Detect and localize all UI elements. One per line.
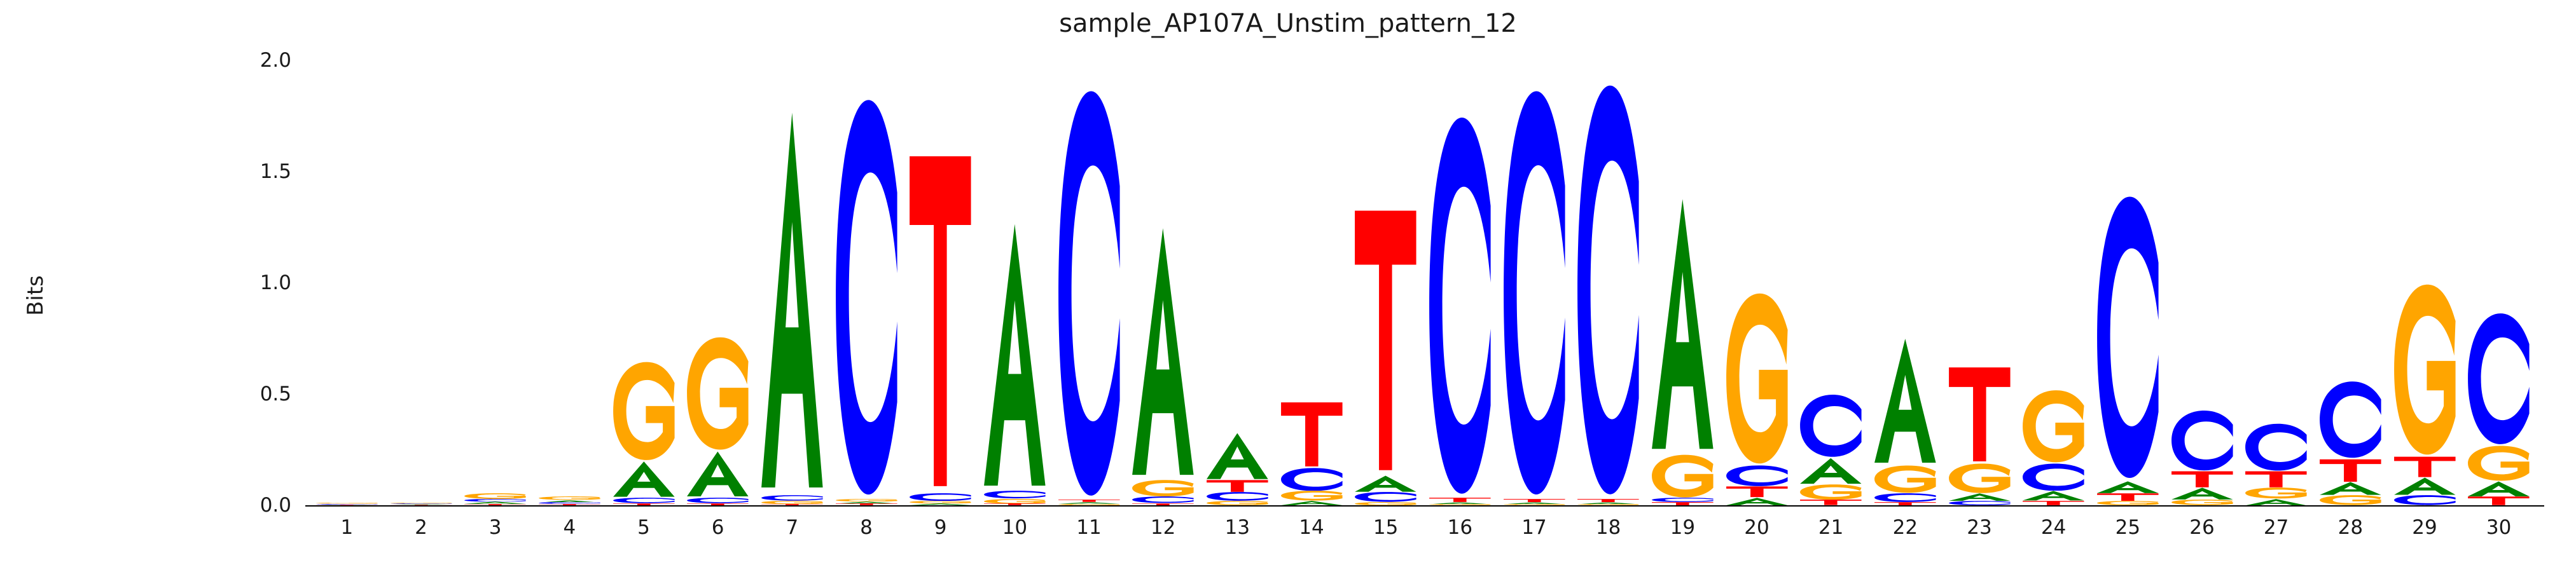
x-axis-tick-label: 17 xyxy=(1521,516,1546,539)
logo-stack[interactable] xyxy=(611,60,677,505)
logo-letter-a xyxy=(2318,482,2383,495)
x-axis-tick-label: 21 xyxy=(1818,516,1843,539)
logo-letter-a xyxy=(1724,498,1790,505)
x-axis-tick-label: 8 xyxy=(860,516,873,539)
logo-letter-c xyxy=(2170,410,2235,471)
logo-stack[interactable] xyxy=(908,60,973,505)
y-axis-tick-label: 0.5 xyxy=(260,383,291,405)
x-axis-tick-labels: 1234567891011121314151617181920212223242… xyxy=(310,516,2536,545)
logo-letter-t xyxy=(1279,401,1345,468)
x-axis-tick-label: 24 xyxy=(2041,516,2066,539)
x-axis-tick-label: 29 xyxy=(2412,516,2437,539)
logo-letter-a xyxy=(1873,336,1938,465)
logo-stack[interactable] xyxy=(1724,60,1790,505)
logo-letter-a xyxy=(1353,475,1418,492)
logo-stack[interactable] xyxy=(2318,60,2383,505)
logo-letter-a xyxy=(982,219,1048,491)
logo-letter-c xyxy=(2466,312,2531,446)
logo-stack[interactable] xyxy=(2021,60,2086,505)
logo-letter-g xyxy=(1873,465,1938,493)
x-axis-tick-label: 10 xyxy=(1002,516,1027,539)
logo-letter-t xyxy=(2095,493,2161,501)
logo-letter-a xyxy=(2243,499,2309,506)
logo-letter-g xyxy=(462,493,528,499)
logo-letter-a xyxy=(2466,481,2531,497)
x-axis-tick-label: 22 xyxy=(1893,516,1918,539)
logo-letter-a xyxy=(2392,477,2458,495)
logo-stack[interactable] xyxy=(834,60,899,505)
logo-letter-a xyxy=(1798,458,1864,484)
x-axis-tick-label: 5 xyxy=(637,516,650,539)
logo-letter-c xyxy=(1353,492,1418,502)
x-axis-tick-label: 2 xyxy=(415,516,427,539)
x-axis-tick-label: 12 xyxy=(1151,516,1175,539)
logo-stack[interactable] xyxy=(2170,60,2235,505)
x-axis-tick-label: 15 xyxy=(1373,516,1398,539)
y-axis-tick-label: 1.0 xyxy=(260,271,291,294)
y-axis-tick-label: 0.0 xyxy=(260,494,291,517)
x-axis-tick-label: 1 xyxy=(340,516,353,539)
logo-letter-a xyxy=(759,105,825,495)
logo-letter-a xyxy=(1947,493,2012,501)
logo-letter-g xyxy=(1947,463,2012,493)
logo-letter-c xyxy=(2095,194,2161,481)
logo-letter-t xyxy=(2021,501,2086,505)
logo-letter-a xyxy=(611,461,677,498)
logo-letter-c xyxy=(611,498,677,503)
logo-letter-a xyxy=(2095,481,2161,493)
x-axis-tick-label: 18 xyxy=(1596,516,1621,539)
logo-letter-t xyxy=(1947,365,2012,463)
x-axis-tick-label: 9 xyxy=(934,516,947,539)
logo-letter-g xyxy=(1798,484,1864,500)
x-axis-tick-label: 13 xyxy=(1225,516,1250,539)
x-axis-tick-label: 19 xyxy=(1670,516,1695,539)
logo-letter-t xyxy=(1427,498,1493,502)
logo-stack[interactable] xyxy=(2466,60,2531,505)
logo-stack[interactable] xyxy=(2243,60,2309,505)
x-axis-tick-label: 23 xyxy=(1967,516,1991,539)
logo-letter-g xyxy=(982,499,1048,504)
y-axis-tick-label: 2.0 xyxy=(260,49,291,72)
sequence-logo-figure: sample_AP107A_Unstim_pattern_12 Bits 0.0… xyxy=(0,0,2576,572)
logo-stack[interactable] xyxy=(389,60,454,505)
logo-letter-c xyxy=(1947,501,2012,505)
logo-letter-c xyxy=(759,495,825,501)
logo-plot-area xyxy=(310,60,2536,505)
x-axis-tick-label: 4 xyxy=(563,516,576,539)
logo-letter-t xyxy=(2170,471,2235,487)
logo-stack[interactable] xyxy=(1947,60,2012,505)
logo-letter-a xyxy=(2170,487,2235,500)
x-axis-tick-label: 30 xyxy=(2486,516,2511,539)
logo-letter-t xyxy=(908,149,973,493)
logo-letter-g xyxy=(1650,454,1715,498)
logo-letter-t xyxy=(1205,480,1270,492)
logo-letter-c xyxy=(1650,498,1715,502)
logo-letter-c xyxy=(908,493,973,501)
y-axis-tick-label: 1.5 xyxy=(260,160,291,183)
logo-letter-c xyxy=(1056,87,1122,500)
logo-letter-g xyxy=(2170,500,2235,505)
logo-letter-c xyxy=(2021,463,2086,491)
logo-stack[interactable] xyxy=(982,60,1048,505)
logo-stack[interactable] xyxy=(1205,60,1270,505)
logo-letter-a xyxy=(1279,501,1345,505)
logo-letter-c xyxy=(1575,81,1641,498)
logo-letter-c xyxy=(1724,465,1790,486)
x-axis-baseline xyxy=(305,505,2544,507)
logo-letter-t xyxy=(2243,471,2309,487)
x-axis-tick-label: 20 xyxy=(1744,516,1769,539)
logo-letter-c xyxy=(1798,394,1864,458)
logo-stack[interactable] xyxy=(1427,60,1493,505)
logo-letter-c xyxy=(2318,381,2383,459)
logo-letter-c xyxy=(1873,493,1938,502)
x-axis-tick-label: 3 xyxy=(489,516,502,539)
logo-letter-c xyxy=(1205,492,1270,501)
logo-stack[interactable] xyxy=(1575,60,1641,505)
logo-letter-t xyxy=(2466,496,2531,505)
logo-letter-c xyxy=(2392,495,2458,505)
x-axis-tick-label: 14 xyxy=(1299,516,1324,539)
logo-stack[interactable] xyxy=(314,60,380,505)
logo-letter-t xyxy=(1353,205,1418,475)
logo-stack[interactable] xyxy=(685,60,751,505)
logo-stack[interactable] xyxy=(2095,60,2161,505)
logo-letter-g xyxy=(2318,495,2383,505)
logo-letter-g xyxy=(2243,487,2309,499)
chart-title: sample_AP107A_Unstim_pattern_12 xyxy=(0,9,2576,38)
x-axis-tick-label: 28 xyxy=(2338,516,2363,539)
logo-letter-c xyxy=(1502,87,1567,499)
logo-stack[interactable] xyxy=(1502,60,1567,505)
logo-stack[interactable] xyxy=(1873,60,1938,505)
x-axis-tick-label: 16 xyxy=(1448,516,1472,539)
x-axis-tick-label: 6 xyxy=(712,516,724,539)
logo-letter-t xyxy=(1724,486,1790,498)
logo-letter-t xyxy=(1798,500,1864,505)
logo-stack[interactable] xyxy=(1130,60,1196,505)
x-axis-tick-label: 27 xyxy=(2264,516,2289,539)
logo-stack[interactable] xyxy=(1353,60,1418,505)
x-axis-tick-label: 7 xyxy=(786,516,798,539)
logo-stack[interactable] xyxy=(462,60,528,505)
logo-letter-c xyxy=(2243,423,2309,471)
y-axis-tick-labels: 0.00.51.01.52.0 xyxy=(0,0,299,572)
logo-letter-g xyxy=(1130,480,1196,496)
x-axis-tick-label: 25 xyxy=(2116,516,2140,539)
logo-letter-t xyxy=(2392,456,2458,477)
logo-stack[interactable] xyxy=(537,60,602,505)
logo-stack[interactable] xyxy=(759,60,825,505)
logo-stack[interactable] xyxy=(1279,60,1345,505)
logo-letter-a xyxy=(1205,432,1270,480)
logo-letter-g xyxy=(2392,283,2458,456)
logo-letter-a xyxy=(1130,223,1196,480)
logo-letter-c xyxy=(982,491,1048,498)
logo-stack[interactable] xyxy=(2392,60,2458,505)
logo-letter-g xyxy=(1724,292,1790,465)
logo-letter-g xyxy=(2021,390,2086,463)
logo-stack[interactable] xyxy=(1650,60,1715,505)
logo-letter-g xyxy=(685,336,751,451)
logo-letter-c xyxy=(1279,468,1345,491)
logo-letter-g xyxy=(2095,501,2161,505)
logo-letter-g xyxy=(1279,491,1345,501)
logo-letter-a xyxy=(1650,194,1715,454)
logo-letter-g xyxy=(2466,446,2531,481)
logo-letter-a xyxy=(2021,491,2086,501)
logo-letter-g xyxy=(611,361,677,461)
x-axis-tick-label: 26 xyxy=(2189,516,2214,539)
logo-letter-a xyxy=(685,451,751,498)
logo-letter-c xyxy=(1130,496,1196,503)
logo-stack[interactable] xyxy=(1798,60,1864,505)
logo-letter-g xyxy=(1205,501,1270,505)
logo-letter-t xyxy=(2318,459,2383,482)
logo-letter-c xyxy=(685,498,751,503)
logo-letter-c xyxy=(834,96,899,499)
logo-stack[interactable] xyxy=(1056,60,1122,505)
logo-letter-c xyxy=(1427,114,1493,498)
x-axis-tick-label: 11 xyxy=(1076,516,1101,539)
